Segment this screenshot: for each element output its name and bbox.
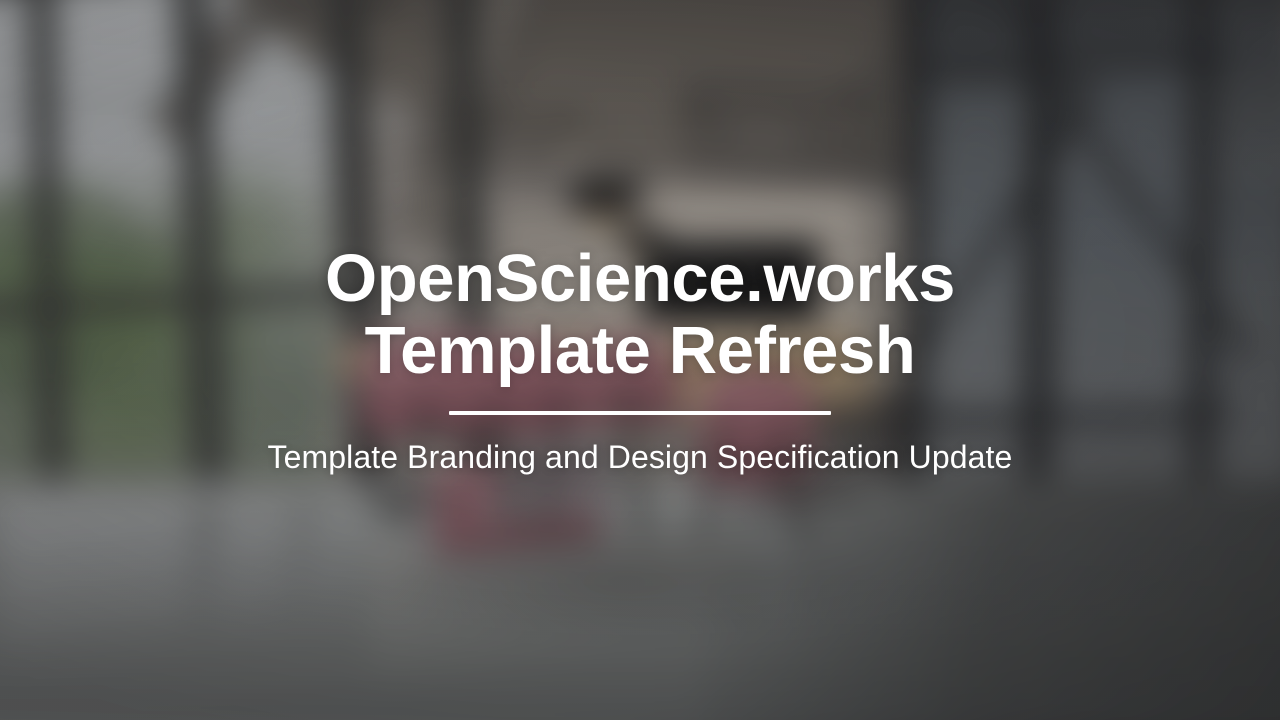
title-divider-rule [449,411,831,415]
slide-title: OpenScience.works Template Refresh [200,243,1080,386]
slide-content: OpenScience.works Template Refresh Templ… [0,0,1280,720]
slide-subtitle: Template Branding and Design Specificati… [268,437,1013,477]
title-slide: OpenScience.works Template Refresh Templ… [0,0,1280,720]
